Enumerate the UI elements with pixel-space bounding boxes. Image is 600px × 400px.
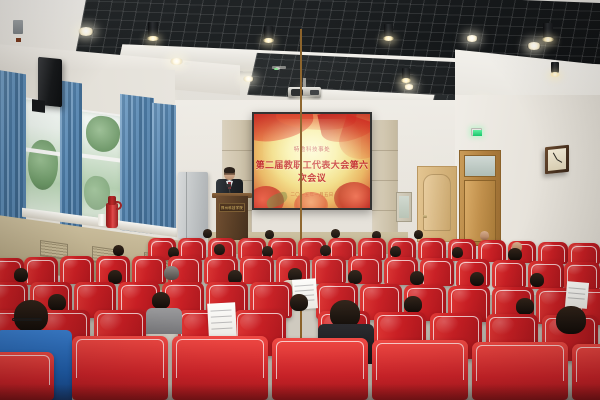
wall-notice-surface <box>399 196 409 218</box>
presenter-hair <box>224 167 235 173</box>
attendee-head <box>320 245 331 256</box>
seat[interactable] <box>492 260 526 288</box>
projection-screen: 特邀科技事处 第二届教职工代表大会第六次会议 二〇一五年一月五日 <box>252 112 372 210</box>
clock-face <box>548 148 566 171</box>
seat-front-row[interactable] <box>0 352 54 400</box>
spot-light-fixture <box>384 24 393 38</box>
slide-subtitle: 特邀科技事处 <box>254 145 370 153</box>
eyeglasses-icon <box>12 318 42 321</box>
document-line <box>210 309 231 311</box>
seat[interactable] <box>132 256 166 284</box>
wall-speaker-left-bracket <box>32 99 45 113</box>
attendee-head <box>516 298 534 315</box>
spot-light-fixture <box>148 22 158 38</box>
side-door[interactable] <box>417 166 457 242</box>
document-line <box>211 315 232 317</box>
attendee-head <box>113 245 124 256</box>
slide-title: 第二届教职工代表大会第六次会议 <box>254 158 370 184</box>
ac-display-panel <box>13 20 23 34</box>
ceiling-sensor-icon <box>274 68 278 70</box>
attendee-head <box>404 296 422 313</box>
document-line <box>295 289 313 291</box>
attendee-head <box>152 292 170 309</box>
ac-power-indicator <box>16 38 21 42</box>
attendee-head <box>14 268 28 282</box>
downlight <box>170 58 183 65</box>
attendee-head <box>290 294 308 311</box>
document-line <box>569 287 586 289</box>
downlight <box>466 35 478 42</box>
seat[interactable] <box>24 257 58 285</box>
wall-notice-board <box>396 192 412 222</box>
spot-light-fixture <box>402 68 410 80</box>
air-conditioner-unit <box>178 172 208 238</box>
spot-light-fixture <box>264 26 273 40</box>
attendee-head <box>48 294 66 311</box>
document-line <box>568 297 585 299</box>
downlight <box>527 42 541 50</box>
ac-seam <box>186 172 187 238</box>
document-line <box>211 321 232 323</box>
wall-panel-seam <box>372 210 398 211</box>
seat[interactable] <box>418 238 446 260</box>
attendee-head <box>390 246 401 257</box>
seat-front-row[interactable] <box>472 342 568 400</box>
attendee-head <box>480 231 489 240</box>
wall-clock <box>545 145 569 175</box>
microphone-icon <box>226 184 231 187</box>
seat-front-row[interactable] <box>272 338 368 400</box>
attendee-head <box>452 247 463 258</box>
document-line <box>295 284 313 286</box>
wall-panel-seam <box>372 150 398 151</box>
attendee-head <box>164 266 179 280</box>
curtain-left-4[interactable] <box>152 103 176 234</box>
downlight <box>404 84 414 90</box>
attendee-head <box>14 300 48 332</box>
downlight <box>243 76 254 82</box>
attendee-head <box>331 229 340 238</box>
clock-hour-hand <box>557 159 563 163</box>
podium-nameplate: 郑州科技学院 <box>219 203 245 212</box>
attendee-head <box>203 229 212 238</box>
curtain-left-2[interactable] <box>60 80 82 231</box>
curtain-left-3[interactable] <box>120 94 154 234</box>
attendee-shoulders <box>146 308 182 334</box>
attendee-head <box>214 244 225 255</box>
seat[interactable] <box>420 258 454 286</box>
door-panel <box>423 174 451 231</box>
attendee-head <box>556 306 586 334</box>
white-cup <box>98 214 106 226</box>
seat-front-row[interactable] <box>172 336 268 400</box>
wall-panel-seam <box>222 150 252 151</box>
document-line <box>568 292 585 294</box>
wall-panel-right <box>372 120 398 232</box>
seat[interactable] <box>240 256 274 284</box>
seat[interactable] <box>60 256 94 284</box>
seat-front-row[interactable] <box>372 340 468 400</box>
door-transom-window <box>464 155 496 177</box>
exit-sign <box>471 128 482 136</box>
seat-front-row[interactable] <box>72 336 168 400</box>
attendee-head <box>410 271 424 285</box>
thermos-cap <box>108 196 116 205</box>
meeting-document <box>207 302 237 337</box>
podium-nameplate-text: 郑州科技学院 <box>221 205 243 210</box>
seat-front-row[interactable] <box>572 344 600 400</box>
clock-minute-hand <box>553 153 558 160</box>
attendee-head <box>348 270 362 284</box>
wall-panel-seam <box>372 180 398 181</box>
downlight <box>78 27 94 36</box>
spot-light-fixture <box>543 23 553 39</box>
seat[interactable] <box>312 256 346 284</box>
door-handle-icon[interactable] <box>423 215 427 218</box>
projection-screen-surface: 特邀科技事处 第二届教职工代表大会第六次会议 二〇一五年一月五日 <box>254 114 370 208</box>
smoke-detector-icon <box>184 62 190 65</box>
conference-hall-photo: 特邀科技事处 第二届教职工代表大会第六次会议 二〇一五年一月五日 <box>0 0 600 400</box>
document-line <box>211 327 232 329</box>
meeting-document <box>565 281 589 309</box>
attendee-head <box>530 273 544 287</box>
attendee-head <box>470 272 484 286</box>
exit-sign-icon <box>473 130 482 136</box>
spot-light-fixture <box>551 62 559 74</box>
slide-flower-decoration <box>334 182 370 208</box>
